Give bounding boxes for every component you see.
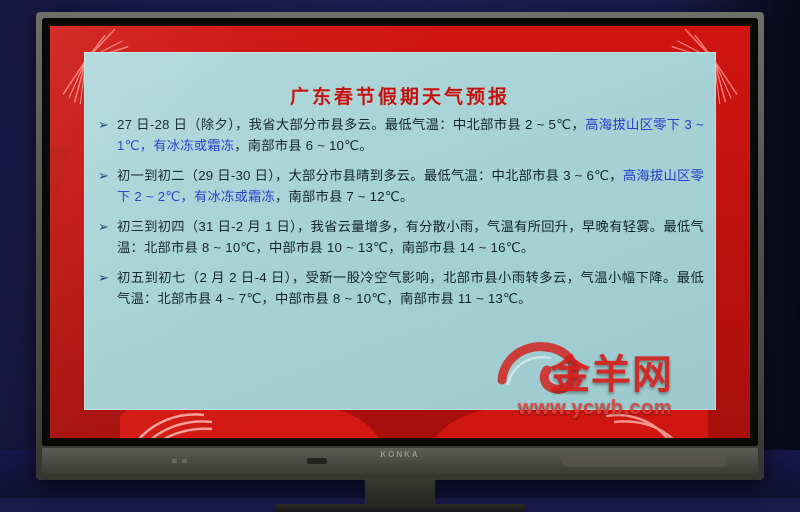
bullet-item: ➢27 日-28 日（除夕），我省大部分市县多云。最低气温：中北部市县 2 ~ … (96, 114, 704, 156)
chin-badge (562, 456, 727, 467)
bullet-text: 初一到初二（29 日-30 日），大部分市县晴到多云。最低气温：中北部市县 3 … (117, 165, 704, 207)
bullet-text: 初三到初四（31 日-2 月 1 日），我省云量增多，有分散小雨，气温有所回升，… (117, 216, 704, 258)
tv-screen[interactable]: 广东春节假期天气预报 ➢27 日-28 日（除夕），我省大部分市县多云。最低气温… (50, 26, 750, 438)
bullet-arrow-icon: ➢ (96, 267, 117, 288)
standby-led (182, 459, 187, 463)
led-indicator-cluster (172, 459, 187, 463)
bullet-text: 初五到初七（2 月 2 日-4 日），受新一股冷空气影响，北部市县小雨转多云，气… (117, 267, 704, 309)
bullet-arrow-icon: ➢ (96, 114, 117, 135)
ir-receiver-window (307, 458, 327, 464)
bullet-list: ➢27 日-28 日（除夕），我省大部分市县多云。最低气温：中北部市县 2 ~ … (96, 114, 704, 318)
power-led (172, 459, 177, 463)
presentation-slide: 广东春节假期天气预报 ➢27 日-28 日（除夕），我省大部分市县多云。最低气温… (84, 52, 716, 410)
tv-chin: KONKA (42, 448, 758, 474)
page-title: 广东春节假期天气预报 (84, 82, 716, 109)
bullet-item: ➢初一到初二（29 日-30 日），大部分市县晴到多云。最低气温：中北部市县 3… (96, 165, 704, 207)
television: 广东春节假期天气预报 ➢27 日-28 日（除夕），我省大部分市县多云。最低气温… (36, 12, 764, 480)
bullet-item: ➢初五到初七（2 月 2 日-4 日），受新一股冷空气影响，北部市县小雨转多云，… (96, 267, 704, 309)
plain-text: 27 日-28 日（除夕），我省大部分市县多云。最低气温：中北部市县 2 ~ 5… (117, 117, 585, 132)
bullet-item: ➢初三到初四（31 日-2 月 1 日），我省云量增多，有分散小雨，气温有所回升… (96, 216, 704, 258)
bullet-text: 27 日-28 日（除夕），我省大部分市县多云。最低气温：中北部市县 2 ~ 5… (117, 114, 704, 156)
plain-text: 初三到初四（31 日-2 月 1 日），我省云量增多，有分散小雨，气温有所回升，… (117, 219, 704, 255)
bullet-arrow-icon: ➢ (96, 216, 117, 237)
tv-stand-base (275, 504, 525, 512)
plain-text: ，南部市县 7 ~ 12℃。 (275, 189, 414, 204)
plain-text: 初一到初二（29 日-30 日），大部分市县晴到多云。最低气温：中北部市县 3 … (117, 168, 623, 183)
bullet-arrow-icon: ➢ (96, 165, 117, 186)
plain-text: ，南部市县 6 ~ 10℃。 (234, 138, 373, 153)
tv-stand-neck (365, 478, 435, 506)
plain-text: 初五到初七（2 月 2 日-4 日），受新一股冷空气影响，北部市县小雨转多云，气… (117, 270, 704, 306)
